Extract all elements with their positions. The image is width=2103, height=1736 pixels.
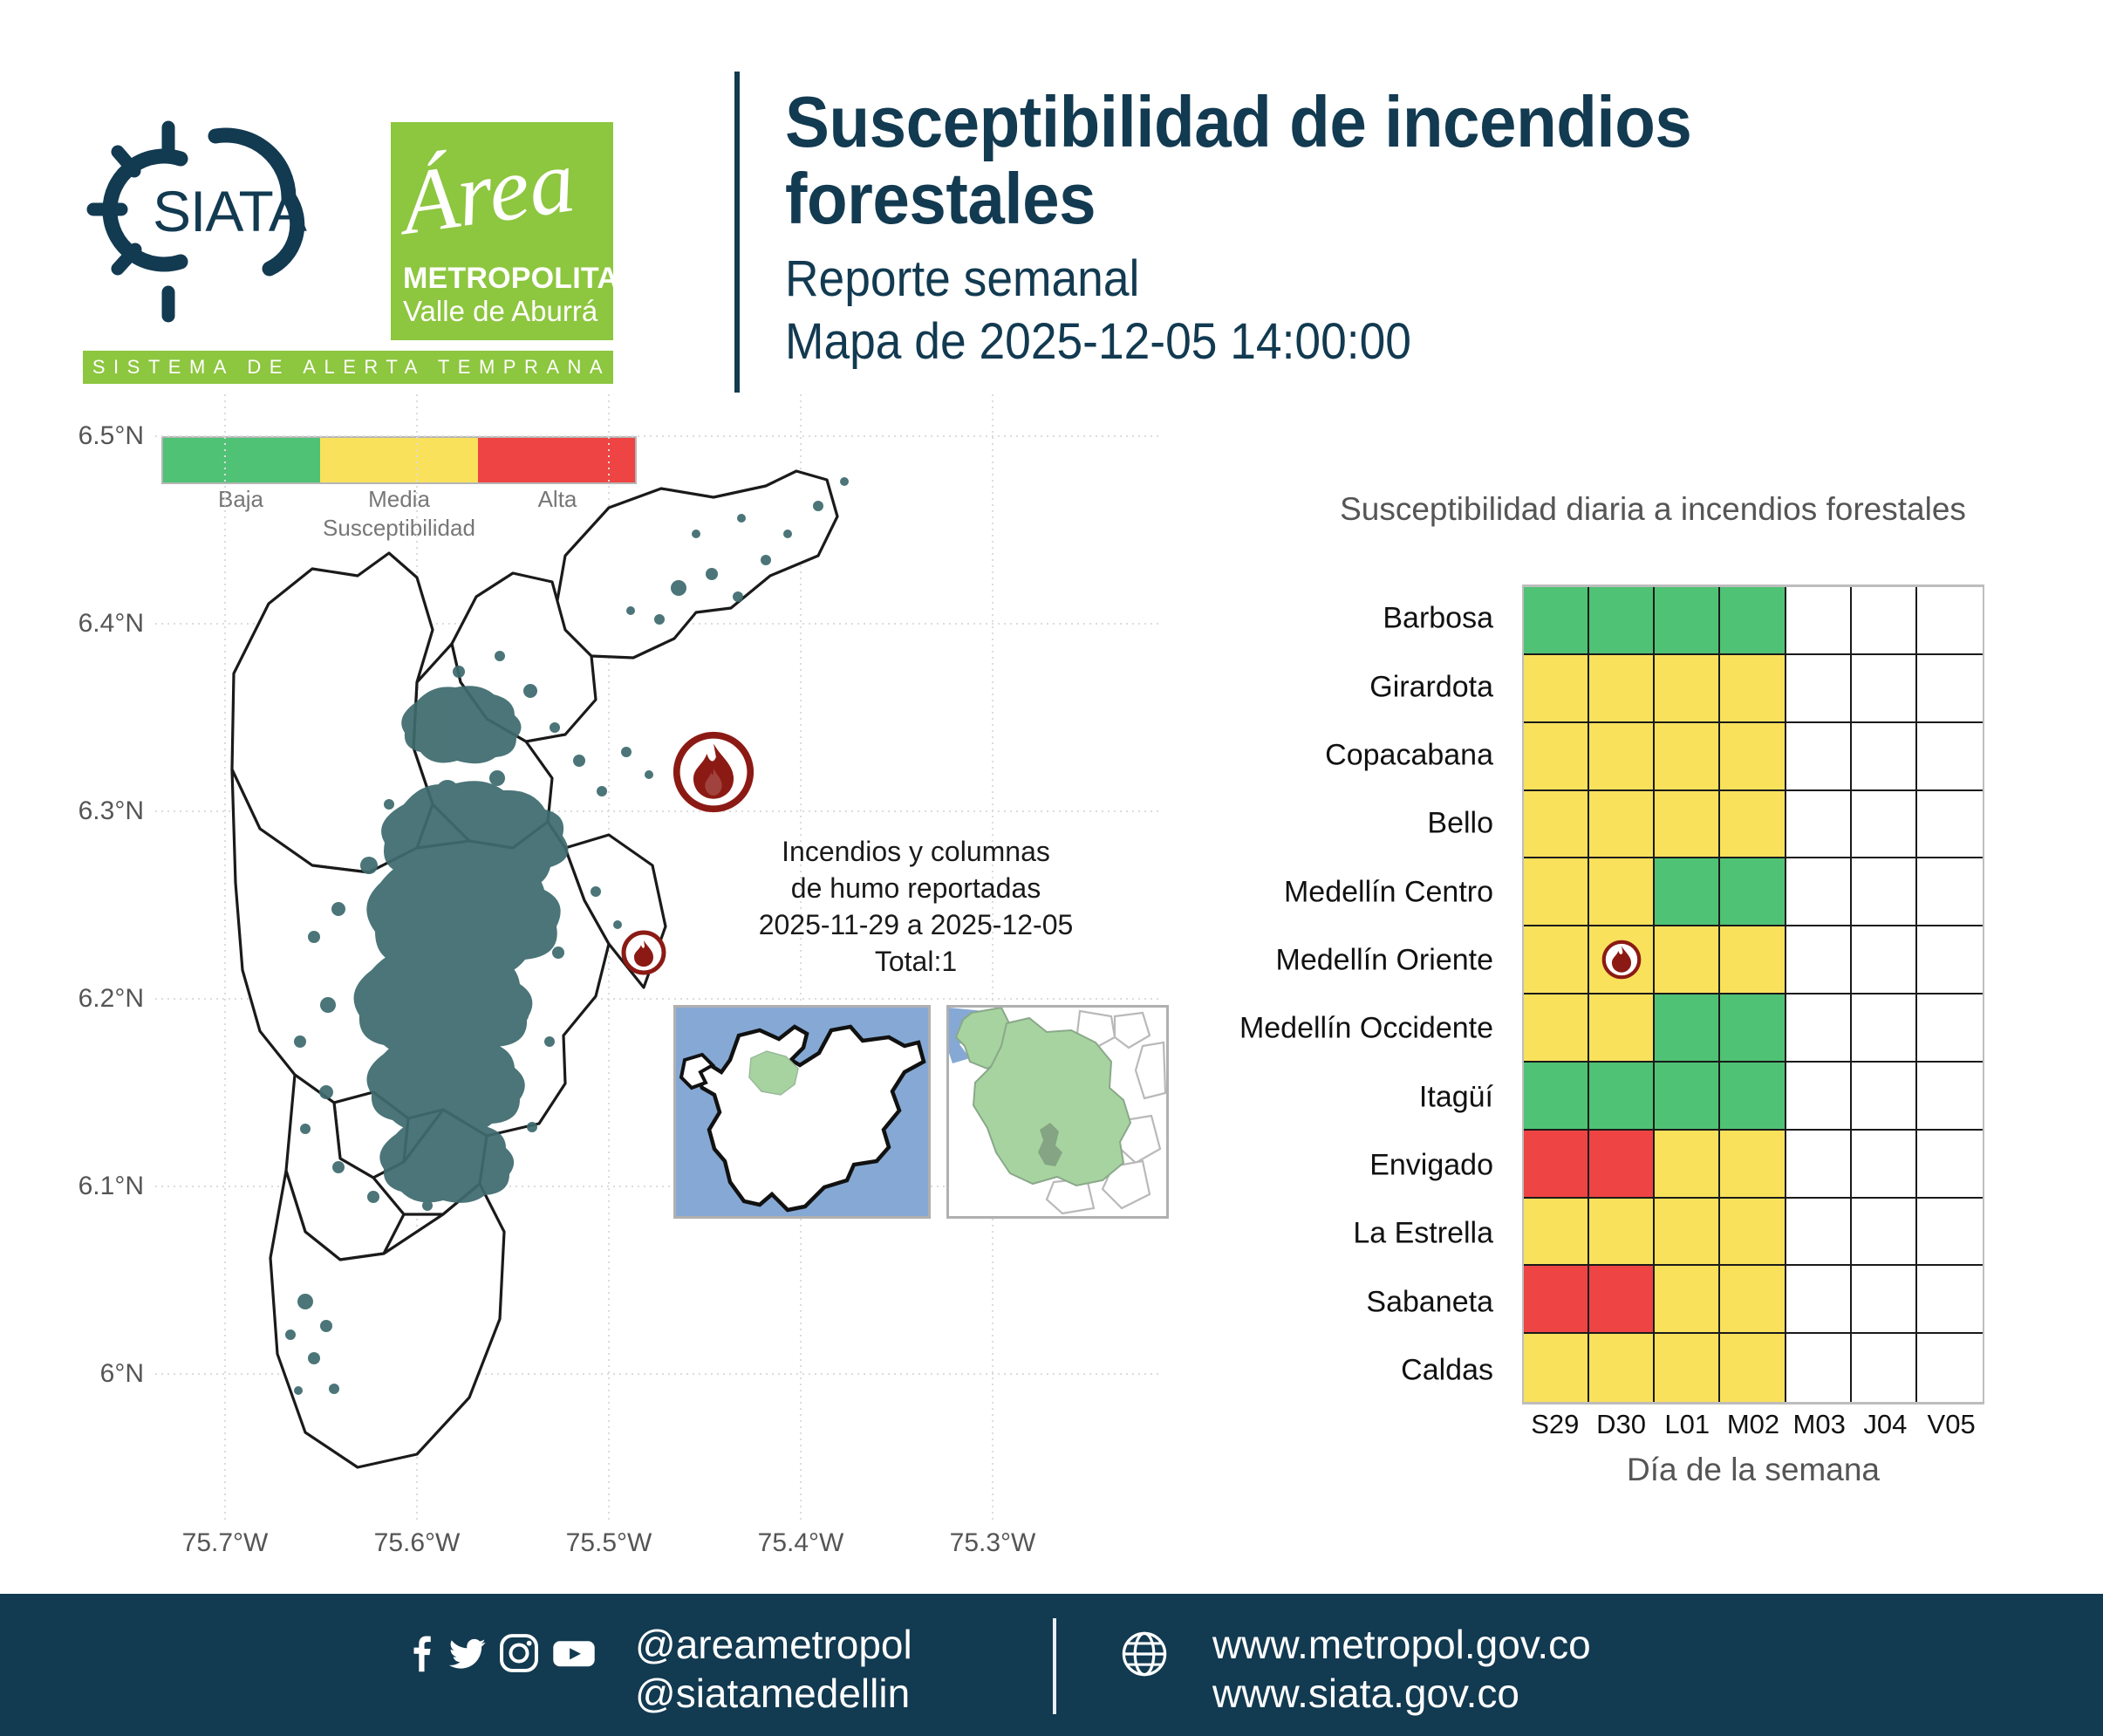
heatmap-row-labels: BarbosaGirardotaCopacabanaBelloMedellín … [1212,584,1509,1405]
heatmap-cell[interactable] [1655,1199,1720,1267]
map-ytick-5: 6°N [100,1359,144,1389]
heatmap-cell[interactable] [1852,1334,1917,1402]
heatmap-cell[interactable] [1720,723,1786,791]
heatmap-cell[interactable] [1852,1266,1917,1334]
url-siata[interactable]: www.siata.gov.co [1212,1669,1591,1718]
siata-sun-cloud-icon: SIATA [83,113,379,327]
heatmap-cell[interactable] [1524,587,1589,655]
heatmap-row-label: Caldas [1401,1353,1493,1387]
heatmap-cell[interactable] [1524,994,1589,1063]
heatmap-cell[interactable] [1720,858,1786,926]
colombia-inset-svg [676,1008,928,1216]
heatmap-row-label: Bello [1427,807,1493,841]
heatmap-cell[interactable] [1524,655,1589,723]
heatmap-cell[interactable] [1917,994,1983,1063]
heatmap-cell[interactable] [1524,1334,1589,1402]
heatmap-cell[interactable] [1720,1131,1786,1199]
siata-tagline-label: SISTEMA DE ALERTA TEMPRANA [83,351,613,384]
heatmap-column-label: D30 [1596,1409,1646,1440]
heatmap-cell[interactable] [1655,858,1720,926]
heatmap-cell[interactable] [1589,587,1655,655]
map-xtick-1: 75.6°W [374,1528,461,1558]
fire-icon [672,730,755,814]
heatmap-cell[interactable] [1720,1199,1786,1267]
heatmap-cell[interactable] [1917,1131,1983,1199]
heatmap-cell[interactable] [1589,655,1655,723]
heatmap-column-label: M03 [1793,1409,1846,1440]
heatmap-column-labels: S29D30L01M02M03J04V05 [1522,1409,1984,1449]
youtube-icon[interactable] [551,1630,597,1676]
heatmap-cell[interactable] [1917,1199,1983,1267]
heatmap-column-label: J04 [1863,1409,1907,1440]
heatmap-cell[interactable] [1786,723,1852,791]
map-y-axis: 6.5°N 6.4°N 6.3°N 6.2°N 6.1°N 6°N [0,394,144,1520]
area-metropolitana-logo: Área METROPOLITANA Valle de Aburrá [391,122,613,340]
heatmap-row-label: Itagüí [1419,1080,1493,1114]
heatmap-cell[interactable] [1720,1266,1786,1334]
heatmap-cell[interactable] [1524,926,1589,994]
map-ytick-4: 6.1°N [79,1172,144,1201]
heatmap-cell[interactable] [1786,926,1852,994]
fire-legend: Incendios y columnas de humo reportadas … [672,730,1160,980]
handle-areametropol[interactable]: @areametropol [635,1620,912,1669]
heatmap-title: Susceptibilidad diaria a incendios fores… [1339,489,1967,530]
header-text-block: Susceptibilidad de incendios forestales … [785,84,2076,373]
heatmap-cell[interactable] [1589,1199,1655,1267]
heatmap-cell[interactable] [1852,655,1917,723]
social-handles: @areametropol @siatamedellin [635,1620,912,1718]
heatmap-cell[interactable] [1655,1063,1720,1131]
heatmap-column-label: L01 [1664,1409,1710,1440]
fire-legend-text: Incendios y columnas de humo reportadas … [672,833,1160,980]
map-date-label: Mapa de 2025-12-05 14:00:00 [785,311,1973,373]
page-title: Susceptibilidad de incendios forestales [785,84,1973,237]
heatmap-column-label: V05 [1928,1409,1976,1440]
heatmap-cell[interactable] [1917,858,1983,926]
map-xtick-4: 75.3°W [950,1528,1036,1558]
heatmap-cell[interactable] [1655,723,1720,791]
heatmap-cell[interactable] [1917,791,1983,859]
heatmap-cell[interactable] [1852,1063,1917,1131]
heatmap-cell[interactable] [1852,926,1917,994]
map-fire-marker [624,933,664,973]
heatmap-cell[interactable] [1589,1131,1655,1199]
heatmap-xaxis-title: Día de la semana [1522,1452,1984,1488]
heatmap-cell[interactable] [1589,858,1655,926]
heatmap-cell[interactable] [1786,587,1852,655]
heatmap-cell[interactable] [1786,655,1852,723]
heatmap-cell[interactable] [1917,926,1983,994]
heatmap-cell[interactable] [1786,1063,1852,1131]
heatmap-cell[interactable] [1524,1131,1589,1199]
heatmap-cell[interactable] [1852,994,1917,1063]
heatmap-cell[interactable] [1589,926,1655,994]
heatmap-cell[interactable] [1786,1199,1852,1267]
heatmap-cell[interactable] [1786,1266,1852,1334]
heatmap-cell[interactable] [1720,994,1786,1063]
heatmap-cell[interactable] [1720,655,1786,723]
heatmap-cell[interactable] [1720,926,1786,994]
heatmap-cell[interactable] [1524,723,1589,791]
fire-icon [1601,940,1642,980]
heatmap-cell[interactable] [1655,1334,1720,1402]
inset-map-antioquia[interactable] [946,1005,1169,1219]
antioquia-inset-svg [949,1008,1166,1216]
footer-divider [1053,1618,1056,1714]
heatmap-cell[interactable] [1852,723,1917,791]
facebook-icon[interactable] [406,1630,436,1676]
map-xtick-3: 75.4°W [758,1528,844,1558]
heatmap-cell[interactable] [1917,1266,1983,1334]
fire-legend-line-1: de humo reportadas [672,870,1160,906]
fire-legend-line-2: 2025-11-29 a 2025-12-05 [672,906,1160,943]
heatmap-cell[interactable] [1786,1131,1852,1199]
am-valle-label: Valle de Aburrá [403,295,604,328]
heatmap-cell[interactable] [1720,1063,1786,1131]
map-xtick-2: 75.5°W [566,1528,652,1558]
fire-legend-line-0: Incendios y columnas [672,833,1160,870]
heatmap-cell[interactable] [1524,858,1589,926]
map-xtick-0: 75.7°W [182,1528,269,1558]
heatmap-cell[interactable] [1917,587,1983,655]
heatmap-cell[interactable] [1589,1063,1655,1131]
svg-text:Área: Área [391,130,581,254]
am-metropolitana-label: METROPOLITANA [403,262,604,295]
map-x-axis: 75.7°W 75.6°W 75.5°W 75.4°W 75.3°W [155,1521,1163,1574]
inset-map-colombia[interactable] [673,1005,931,1219]
heatmap-row-label: Medellín Centro [1284,875,1493,909]
heatmap-row-label: Copacabana [1325,738,1493,772]
header-divider [734,72,740,393]
heatmap-cell[interactable] [1655,994,1720,1063]
social-icon-row [406,1630,625,1676]
heatmap-column-label: S29 [1531,1409,1579,1440]
heatmap-cell[interactable] [1655,587,1720,655]
heatmap-row-label: Medellín Oriente [1276,943,1493,977]
heatmap-cell[interactable] [1852,858,1917,926]
heatmap-cell[interactable] [1655,1131,1720,1199]
heatmap-cell[interactable] [1655,926,1720,994]
heatmap-cell[interactable] [1852,791,1917,859]
heatmap-cell[interactable] [1917,1063,1983,1131]
siata-tagline-bar: SISTEMA DE ALERTA TEMPRANA [83,351,613,384]
page-header: SIATA Área METROPOLITANA Valle de Aburrá… [0,0,2103,393]
map-ytick-0: 6.5°N [79,421,144,451]
instagram-icon[interactable] [499,1630,539,1676]
heatmap-cell[interactable] [1720,587,1786,655]
heatmap-cell[interactable] [1852,1199,1917,1267]
area-script-icon: Área [391,129,613,273]
heatmap-cell[interactable] [1589,791,1655,859]
globe-icon [1121,1630,1168,1678]
heatmap-cell[interactable] [1917,723,1983,791]
heatmap-cell[interactable] [1917,655,1983,723]
url-metropol[interactable]: www.metropol.gov.co [1212,1620,1591,1669]
daily-susceptibility-heatmap: Susceptibilidad diaria a incendios fores… [1212,489,2093,1518]
heatmap-grid[interactable] [1522,584,1984,1405]
heatmap-cell[interactable] [1589,1334,1655,1402]
heatmap-cell[interactable] [1852,587,1917,655]
heatmap-cell[interactable] [1524,791,1589,859]
heatmap-cell[interactable] [1589,723,1655,791]
heatmap-row-label: Sabaneta [1366,1285,1493,1319]
twitter-icon[interactable] [448,1630,487,1676]
page-footer: @areametropol @siatamedellin www.metropo… [0,1594,2103,1736]
heatmap-cell[interactable] [1655,1266,1720,1334]
svg-text:SIATA: SIATA [153,179,307,243]
siata-logo: SIATA Área METROPOLITANA Valle de Aburrá… [83,113,659,375]
heatmap-row-label: La Estrella [1353,1217,1493,1251]
heatmap-row-label: Medellín Occidente [1239,1012,1493,1046]
page-subtitle: Reporte semanal [785,248,1973,311]
heatmap-cell[interactable] [1589,994,1655,1063]
heatmap-cell[interactable] [1786,1334,1852,1402]
heatmap-cell[interactable] [1720,1334,1786,1402]
heatmap-cell[interactable] [1655,655,1720,723]
map-ytick-1: 6.4°N [79,609,144,639]
heatmap-cell[interactable] [1720,791,1786,859]
heatmap-row-label: Barbosa [1383,602,1493,636]
report-page: SIATA Área METROPOLITANA Valle de Aburrá… [0,0,2103,1736]
heatmap-cell[interactable] [1589,1266,1655,1334]
heatmap-cell[interactable] [1786,791,1852,859]
map-panel: Baja Media Alta Susceptibilidad 6.5°N 6.… [0,394,1169,1594]
heatmap-cell[interactable] [1524,1266,1589,1334]
heatmap-cell[interactable] [1524,1199,1589,1267]
heatmap-cell[interactable] [1655,791,1720,859]
heatmap-cell[interactable] [1524,1063,1589,1131]
heatmap-column-label: M02 [1727,1409,1779,1440]
heatmap-cell[interactable] [1786,858,1852,926]
heatmap-cell[interactable] [1852,1131,1917,1199]
map-ytick-2: 6.3°N [79,796,144,826]
handle-siatamedellin[interactable]: @siatamedellin [635,1669,912,1718]
map-ytick-3: 6.2°N [79,984,144,1014]
heatmap-row-label: Envigado [1369,1148,1493,1182]
website-urls: www.metropol.gov.co www.siata.gov.co [1212,1620,1591,1718]
heatmap-cell[interactable] [1786,994,1852,1063]
heatmap-cell[interactable] [1917,1334,1983,1402]
fire-legend-line-3: Total:1 [672,943,1160,980]
heatmap-row-label: Girardota [1369,670,1493,704]
